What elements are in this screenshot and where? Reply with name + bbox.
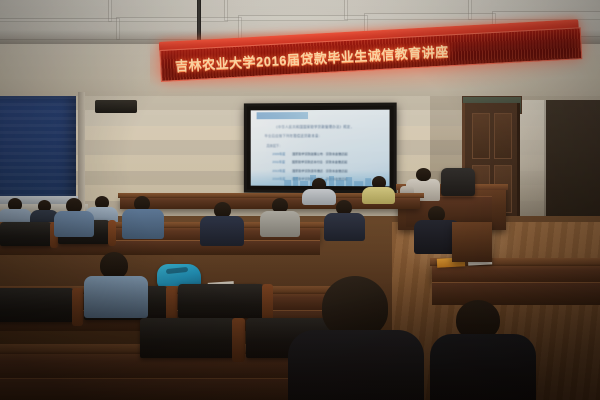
- leather-lecture-chairs[interactable]: [178, 284, 264, 318]
- slide-paragraph-2: 毕业后应按下列年限偿还贷款本息：: [264, 133, 322, 138]
- slide-row: 2009年度 国家助学贷款政策公布 · 贷款本金偿还起: [272, 151, 347, 156]
- dark-corner-right: [544, 100, 600, 224]
- slide-header-bar: [257, 112, 308, 119]
- banner-text: 吉林农业大学2016届贷款毕业生诚信教育讲座: [175, 41, 450, 75]
- slide-row-year: 2011年度: [272, 159, 285, 164]
- student-torso: [84, 276, 148, 318]
- slide-paragraph-3: 具体如下：: [266, 143, 282, 148]
- slide-row-text: 国家助学贷款政策公布 · 贷款本金偿还起: [292, 151, 347, 156]
- student-torso: [302, 189, 336, 205]
- wall-speaker: [95, 100, 137, 113]
- office-chair[interactable]: [441, 168, 475, 196]
- lecture-hall-photograph: 吉林农业大学2016届贷款毕业生诚信教育讲座 《中华人民共和国国家助学贷款管理办…: [0, 0, 600, 400]
- side-podium-block: [452, 222, 492, 262]
- leather-lecture-chairs[interactable]: [0, 222, 52, 246]
- slide-paragraph-1: 《中华人民共和国国家助学贷款管理办法》规定，: [274, 124, 354, 129]
- student-torso: [430, 334, 536, 400]
- speaker-head: [416, 168, 431, 181]
- slide-row-year: 2009年度: [272, 151, 285, 156]
- open-doorway: [516, 100, 546, 220]
- chair-arm: [72, 288, 83, 326]
- chair-arm: [262, 284, 273, 322]
- chair-arm: [232, 318, 245, 362]
- slide-row-text: 国家助学贷款还本付息 · 贷款本金偿还起: [292, 159, 347, 164]
- student-torso: [324, 213, 365, 241]
- tiered-wooden-desks: [432, 264, 600, 284]
- leather-lecture-chairs[interactable]: [140, 318, 236, 358]
- student-torso: [200, 216, 244, 246]
- student-torso: [288, 330, 424, 400]
- student-torso: [122, 209, 164, 239]
- student-head: [100, 252, 128, 279]
- student-torso: [54, 211, 94, 237]
- desk-front-panel: [432, 282, 600, 305]
- navy-window-blind: [0, 96, 76, 208]
- student-head: [322, 276, 388, 338]
- slide-row: 2011年度 国家助学贷款还本付息 · 贷款本金偿还起: [272, 159, 347, 164]
- student-torso: [362, 187, 395, 204]
- leather-lecture-chairs[interactable]: [0, 288, 74, 322]
- student-torso: [260, 211, 300, 237]
- projected-presentation-slide: 《中华人民共和国国家助学贷款管理办法》规定， 毕业后应按下列年限偿还贷款本息： …: [251, 110, 390, 187]
- chair-arm: [108, 220, 116, 246]
